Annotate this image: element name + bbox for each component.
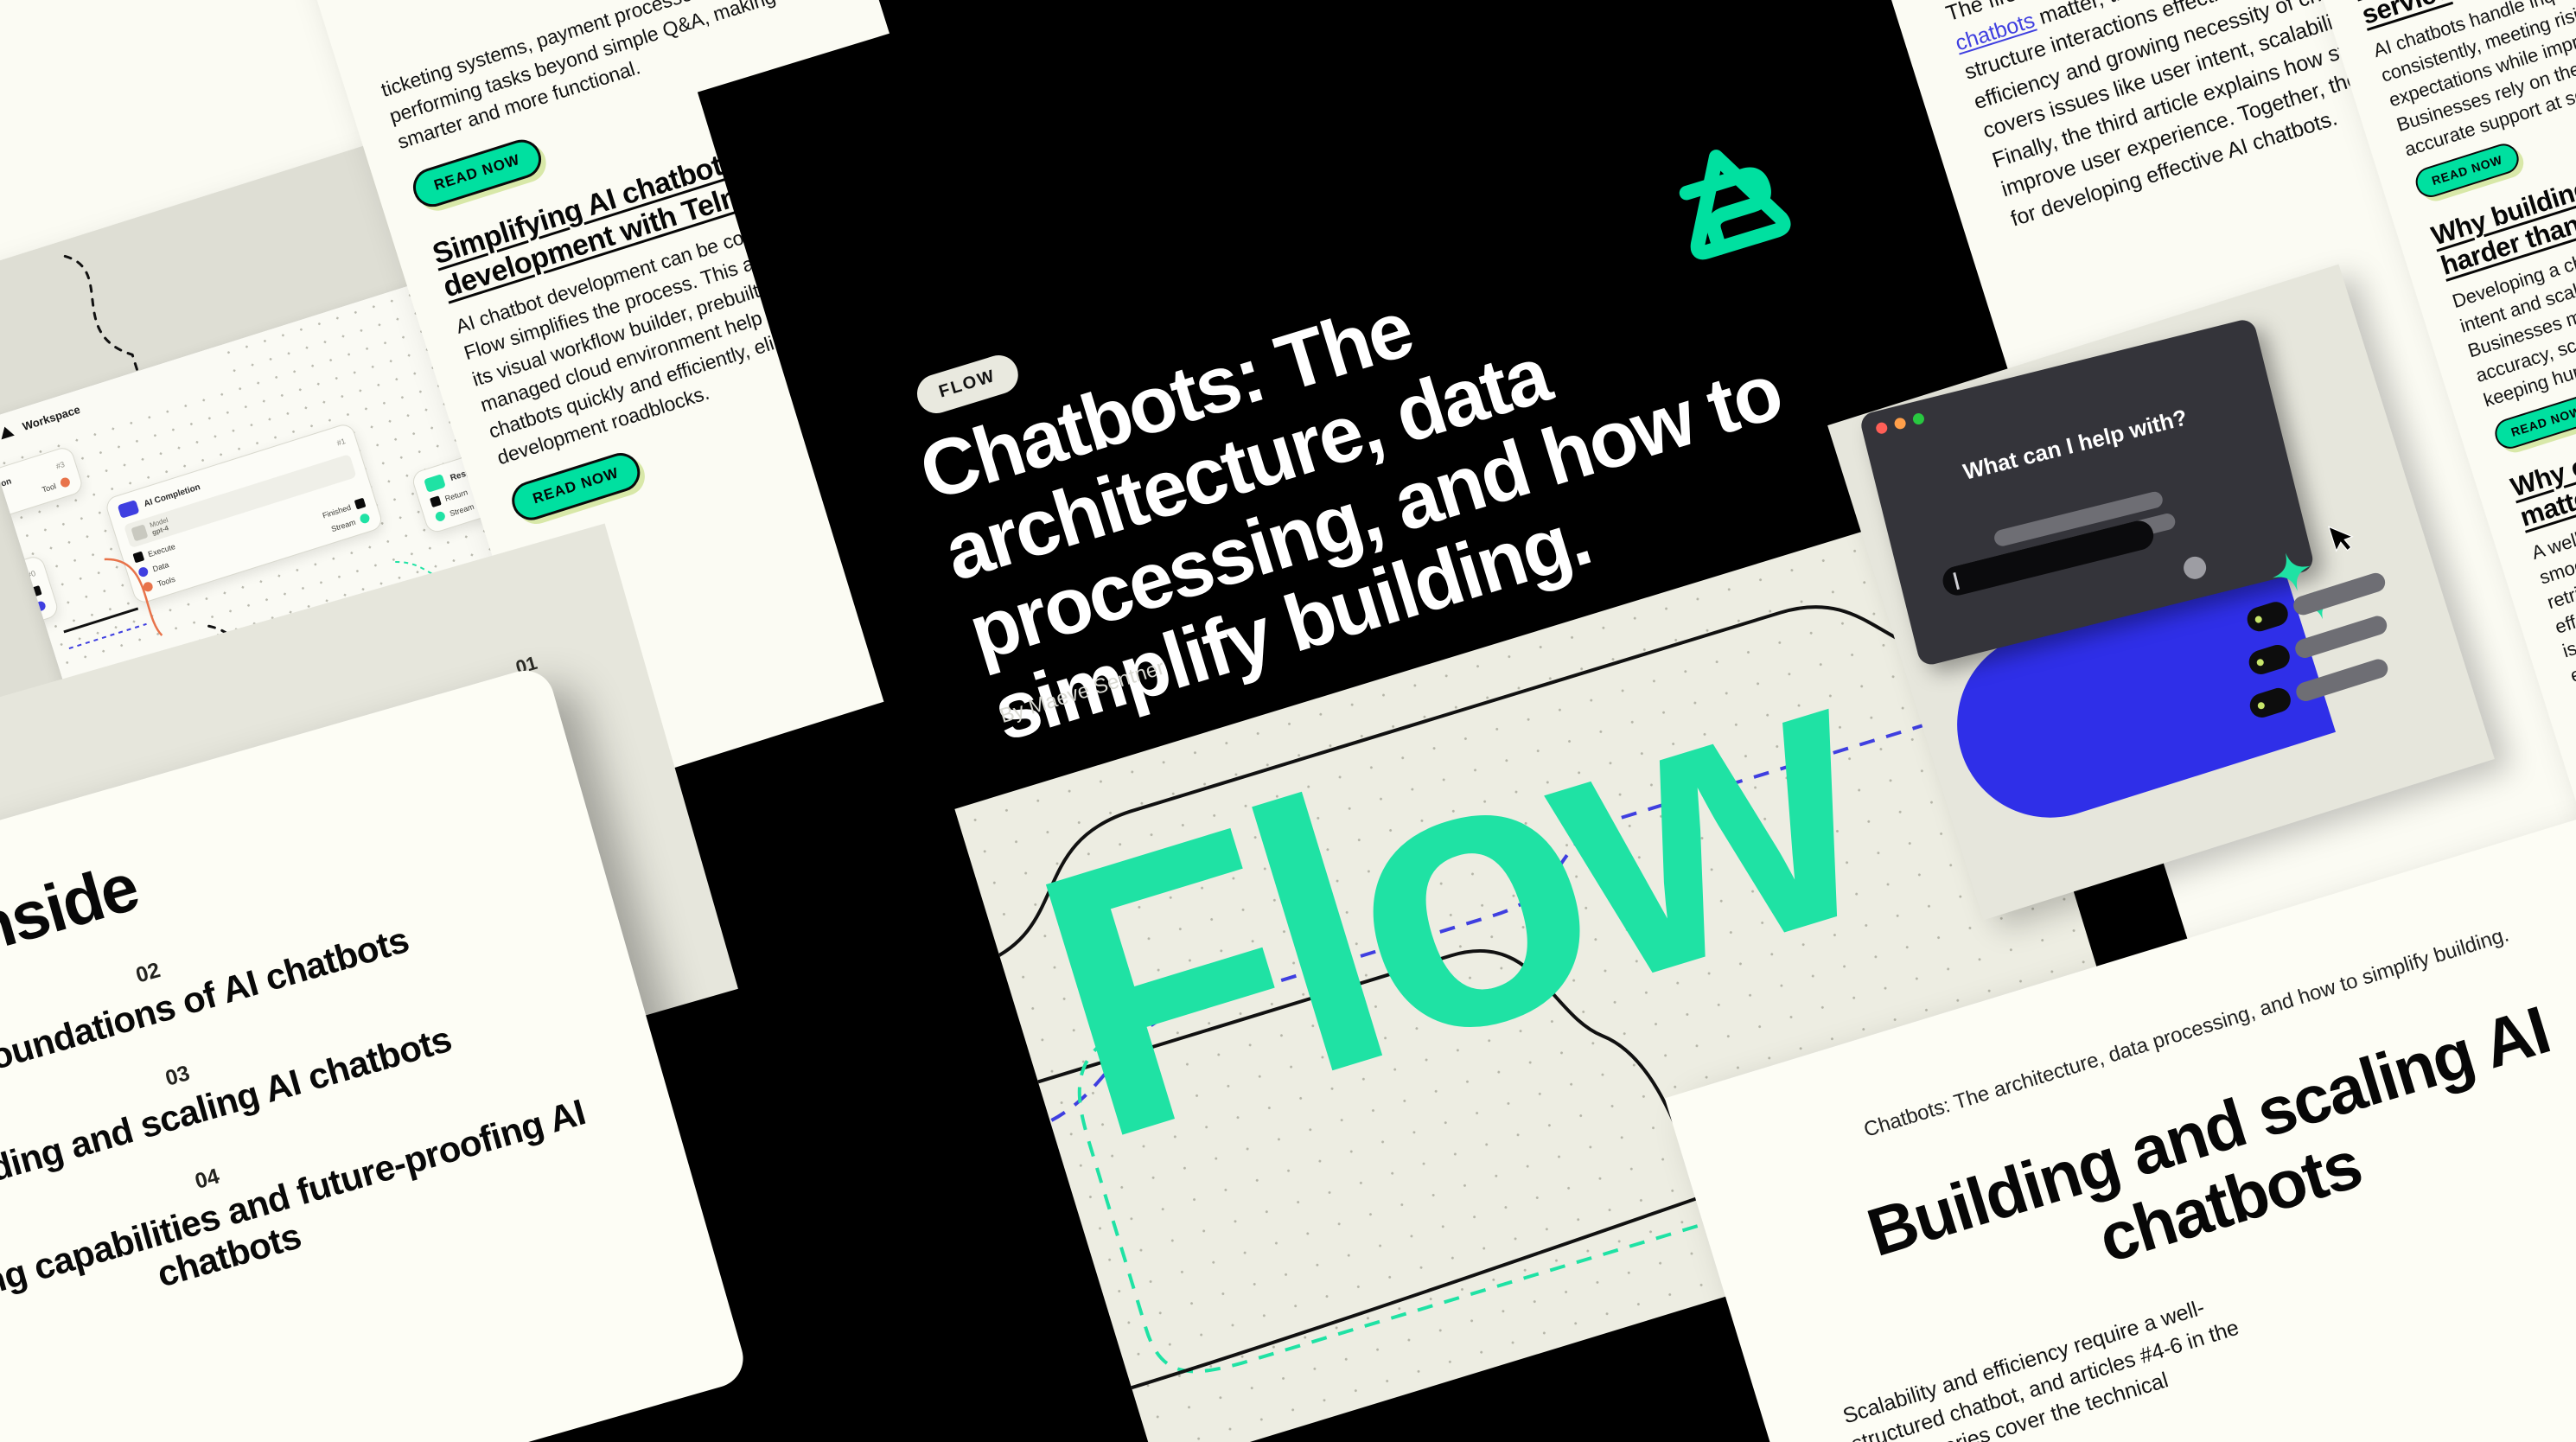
traffic-lights bbox=[1875, 412, 1925, 435]
maximize-icon[interactable] bbox=[1912, 412, 1926, 426]
card-ai-chatbots-customer: AI chatbots for customer service AI chat… bbox=[2349, 0, 2576, 201]
chat-prompt-title: What can I help with? bbox=[1875, 383, 2276, 507]
close-icon[interactable] bbox=[1875, 421, 1889, 435]
left-intro-paragraph: gether, these articles highlight how bus… bbox=[0, 0, 166, 67]
deck-canvas: gether, these articles highlight how bus… bbox=[0, 0, 2576, 1442]
send-button[interactable] bbox=[2181, 554, 2209, 582]
minimize-icon[interactable] bbox=[1893, 417, 1907, 431]
chapter-subheading[interactable]: Build sm bbox=[2410, 1432, 2535, 1442]
